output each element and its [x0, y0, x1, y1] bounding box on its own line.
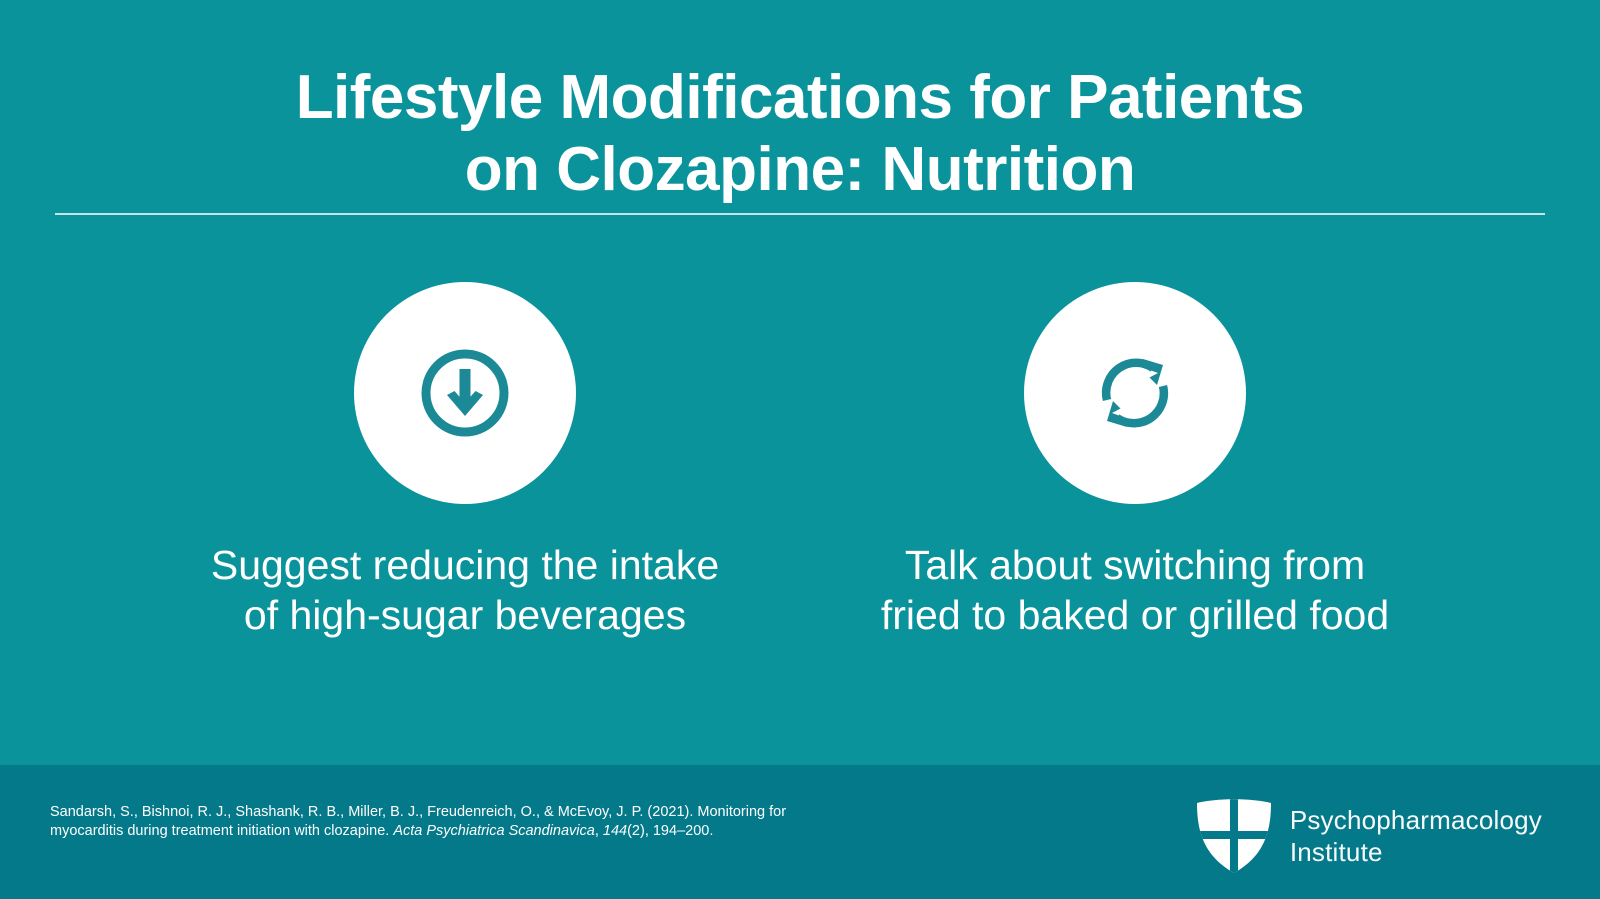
card-caption-1: Suggest reducing the intake of high-suga…: [211, 540, 719, 640]
title-line-1: Lifestyle Modifications for Patients: [0, 62, 1600, 134]
card-nutrition-cooking: Talk about switching from fried to baked…: [800, 282, 1470, 640]
card-caption-2: Talk about switching from fried to baked…: [881, 540, 1389, 640]
card-nutrition-beverages: Suggest reducing the intake of high-suga…: [130, 282, 800, 640]
citation-issue-pages: (2), 194–200.: [627, 823, 713, 839]
card-row: Suggest reducing the intake of high-suga…: [0, 282, 1600, 640]
refresh-switch-icon: [1087, 345, 1183, 441]
citation-journal: Acta Psychiatrica Scandinavica: [393, 823, 595, 839]
citation-volume: 144: [603, 823, 627, 839]
icon-circle-2: [1024, 282, 1246, 504]
brand-logo: Psychopharmacology Institute: [1194, 798, 1542, 874]
arrow-down-circle-icon: [417, 345, 513, 441]
footer-bar: Sandarsh, S., Bishnoi, R. J., Shashank, …: [0, 765, 1600, 899]
page-title: Lifestyle Modifications for Patients on …: [0, 62, 1600, 206]
citation-text: Sandarsh, S., Bishnoi, R. J., Shashank, …: [50, 803, 790, 840]
slide-canvas: Lifestyle Modifications for Patients on …: [0, 0, 1600, 899]
brand-logo-text: Psychopharmacology Institute: [1290, 804, 1542, 868]
title-line-2: on Clozapine: Nutrition: [0, 134, 1600, 206]
title-divider: [55, 213, 1545, 215]
icon-circle-1: [354, 282, 576, 504]
citation-separator: ,: [595, 823, 603, 839]
shield-cross-icon: [1194, 798, 1274, 874]
